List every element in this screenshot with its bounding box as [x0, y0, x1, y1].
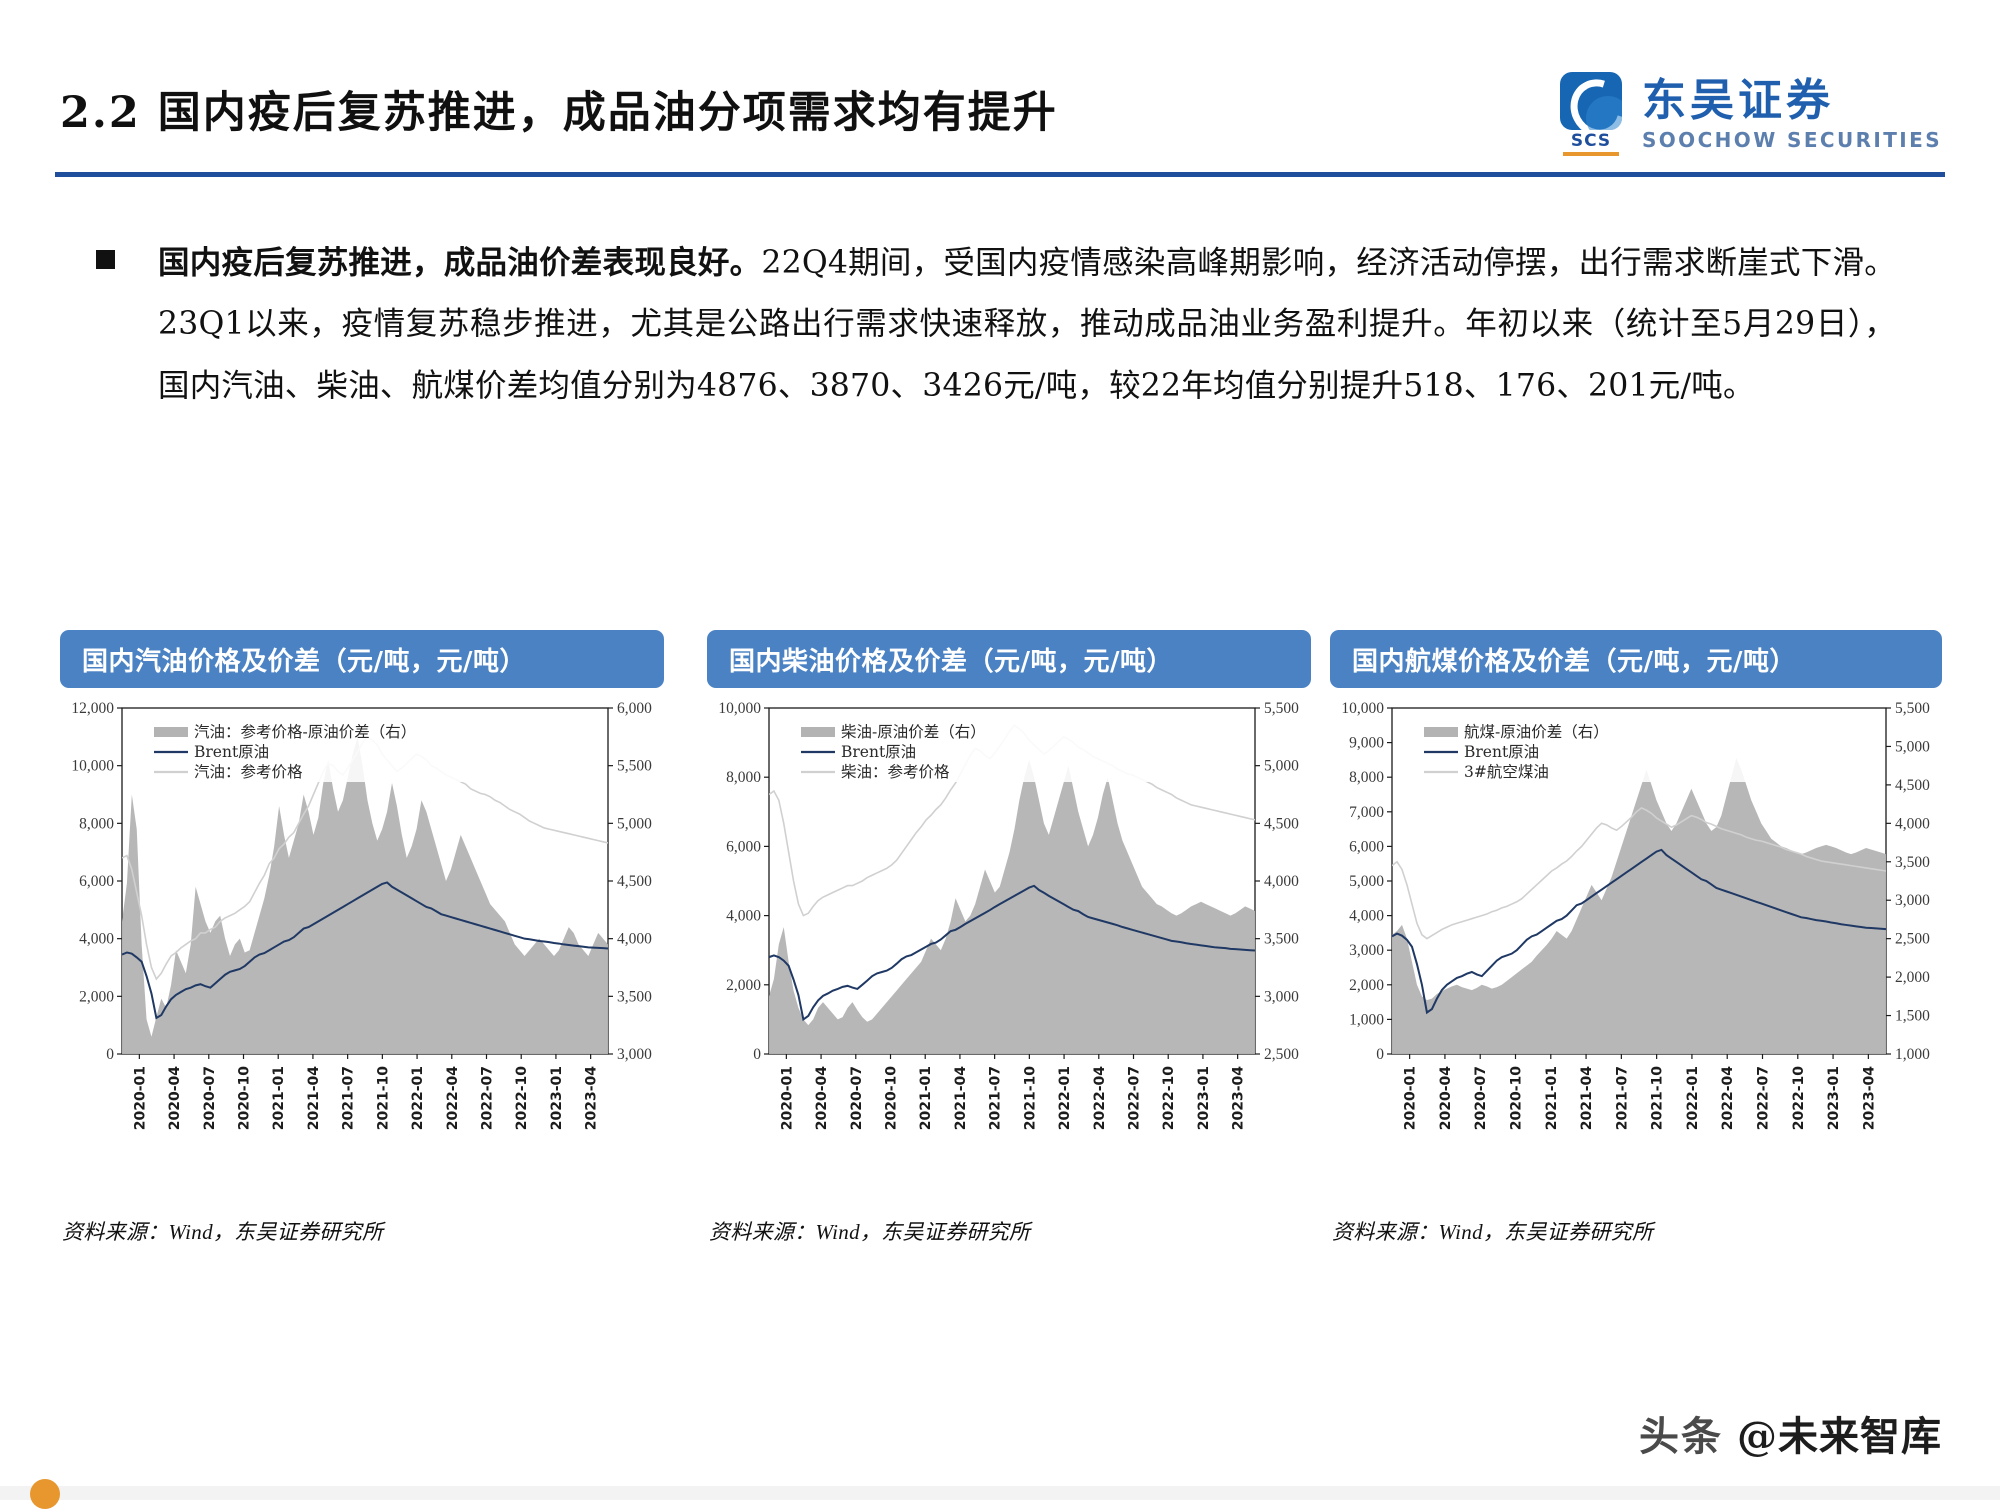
footer-dot-icon — [30, 1479, 60, 1509]
chart-title-jetfuel: 国内航煤价格及价差（元/吨，元/吨） — [1330, 630, 1942, 688]
chart-title-gasoline: 国内汽油价格及价差（元/吨，元/吨） — [60, 630, 664, 688]
svg-text:2,500: 2,500 — [1895, 931, 1930, 948]
footer-strip — [0, 1486, 2000, 1500]
svg-text:3,500: 3,500 — [1264, 931, 1299, 948]
svg-text:2021-01: 2021-01 — [918, 1066, 934, 1130]
svg-text:3,000: 3,000 — [1349, 942, 1384, 959]
svg-text:2020-04: 2020-04 — [814, 1066, 830, 1131]
svg-text:3#航空煤油: 3#航空煤油 — [1464, 763, 1549, 781]
svg-text:2023-01: 2023-01 — [1196, 1066, 1212, 1130]
svg-text:2023-04: 2023-04 — [1231, 1066, 1247, 1131]
svg-text:10,000: 10,000 — [1341, 702, 1384, 717]
svg-text:2023-04: 2023-04 — [1861, 1066, 1877, 1131]
svg-text:4,000: 4,000 — [1349, 908, 1384, 925]
svg-text:10,000: 10,000 — [71, 758, 114, 775]
svg-text:0: 0 — [1376, 1046, 1384, 1063]
svg-text:10,000: 10,000 — [718, 702, 761, 717]
svg-text:2020-01: 2020-01 — [779, 1066, 795, 1130]
svg-text:2020-01: 2020-01 — [1403, 1066, 1419, 1130]
chart-panel-diesel: 国内柴油价格及价差（元/吨，元/吨） 02,0004,0006,0008,000… — [707, 630, 1311, 1250]
svg-text:6,000: 6,000 — [726, 838, 761, 855]
chart-canvas-jetfuel: 01,0002,0003,0004,0005,0006,0007,0008,00… — [1330, 702, 1942, 1172]
svg-text:2022-01: 2022-01 — [1057, 1066, 1073, 1130]
svg-text:2022-04: 2022-04 — [445, 1066, 461, 1131]
source-note-gasoline: 资料来源：Wind，东吴证券研究所 — [62, 1216, 383, 1246]
svg-text:2020-01: 2020-01 — [132, 1066, 148, 1130]
svg-text:8,000: 8,000 — [1349, 769, 1384, 786]
header-divider — [55, 172, 1945, 177]
chart-svg: 01,0002,0003,0004,0005,0006,0007,0008,00… — [1330, 702, 1942, 1172]
svg-text:5,000: 5,000 — [1264, 758, 1299, 775]
scs-logo-icon: SCS — [1554, 72, 1628, 158]
svg-text:3,000: 3,000 — [617, 1046, 652, 1063]
svg-text:4,000: 4,000 — [617, 931, 652, 948]
svg-text:2020-04: 2020-04 — [1438, 1066, 1454, 1131]
svg-text:2021-07: 2021-07 — [341, 1066, 357, 1130]
svg-text:6,000: 6,000 — [617, 702, 652, 717]
svg-text:2021-01: 2021-01 — [1544, 1066, 1560, 1130]
svg-text:4,000: 4,000 — [726, 908, 761, 925]
svg-text:2022-04: 2022-04 — [1720, 1066, 1736, 1131]
svg-text:4,000: 4,000 — [79, 931, 114, 948]
logo-english-name: SOOCHOW SECURITIES — [1642, 128, 1942, 152]
svg-text:5,000: 5,000 — [1349, 873, 1384, 890]
svg-text:4,500: 4,500 — [617, 873, 652, 890]
svg-text:6,000: 6,000 — [1349, 838, 1384, 855]
svg-text:Brent原油: Brent原油 — [194, 743, 269, 761]
svg-text:2023-01: 2023-01 — [1826, 1066, 1842, 1130]
svg-text:4,500: 4,500 — [1895, 777, 1930, 794]
svg-text:12,000: 12,000 — [71, 702, 114, 717]
chart-panel-gasoline: 国内汽油价格及价差（元/吨，元/吨） 02,0004,0006,0008,000… — [60, 630, 664, 1250]
svg-text:2,000: 2,000 — [1349, 977, 1384, 994]
svg-text:2021-01: 2021-01 — [271, 1066, 287, 1130]
svg-text:7,000: 7,000 — [1349, 804, 1384, 821]
svg-text:4,000: 4,000 — [1264, 873, 1299, 890]
svg-text:2023-04: 2023-04 — [584, 1066, 600, 1131]
svg-text:2,000: 2,000 — [726, 977, 761, 994]
svg-text:3,000: 3,000 — [1895, 892, 1930, 909]
svg-text:2020-10: 2020-10 — [884, 1066, 900, 1131]
svg-text:2021-10: 2021-10 — [375, 1066, 391, 1131]
chart-svg: 02,0004,0006,0008,00010,00012,0003,0003,… — [60, 702, 664, 1172]
scs-logo-underline — [1563, 152, 1619, 156]
svg-text:2022-01: 2022-01 — [410, 1066, 426, 1130]
svg-text:3,500: 3,500 — [1895, 854, 1930, 871]
svg-text:2023-01: 2023-01 — [549, 1066, 565, 1130]
svg-text:汽油：参考价格: 汽油：参考价格 — [194, 763, 303, 781]
svg-text:1,000: 1,000 — [1349, 1011, 1384, 1028]
chart-title-diesel: 国内柴油价格及价差（元/吨，元/吨） — [707, 630, 1311, 688]
svg-text:2022-01: 2022-01 — [1685, 1066, 1701, 1130]
source-note-jetfuel: 资料来源：Wind，东吴证券研究所 — [1332, 1216, 1653, 1246]
chart-canvas-diesel: 02,0004,0006,0008,00010,0002,5003,0003,5… — [707, 702, 1311, 1172]
svg-text:柴油-原油价差（右）: 柴油-原油价差（右） — [841, 723, 986, 741]
svg-text:2021-07: 2021-07 — [1614, 1066, 1630, 1130]
svg-text:9,000: 9,000 — [1349, 735, 1384, 752]
square-bullet-icon — [96, 250, 115, 269]
svg-text:5,000: 5,000 — [1895, 738, 1930, 755]
svg-text:4,000: 4,000 — [1895, 815, 1930, 832]
svg-text:8,000: 8,000 — [79, 815, 114, 832]
svg-text:2020-10: 2020-10 — [1509, 1066, 1525, 1131]
svg-text:5,500: 5,500 — [617, 758, 652, 775]
svg-text:2022-07: 2022-07 — [1127, 1066, 1143, 1130]
svg-text:2021-10: 2021-10 — [1650, 1066, 1666, 1131]
svg-text:3,500: 3,500 — [617, 988, 652, 1005]
svg-text:2021-10: 2021-10 — [1022, 1066, 1038, 1131]
svg-text:2021-04: 2021-04 — [953, 1066, 969, 1131]
svg-text:2022-10: 2022-10 — [1791, 1066, 1807, 1131]
watermark-platform: 头条 — [1639, 1404, 1723, 1462]
svg-text:5,500: 5,500 — [1264, 702, 1299, 717]
svg-text:2020-07: 2020-07 — [1473, 1066, 1489, 1130]
chart-panel-jetfuel: 国内航煤价格及价差（元/吨，元/吨） 01,0002,0003,0004,000… — [1330, 630, 1942, 1250]
svg-text:1,000: 1,000 — [1895, 1046, 1930, 1063]
svg-text:2,000: 2,000 — [79, 988, 114, 1005]
watermark: 头条 @未来智库 — [1639, 1404, 1942, 1462]
svg-text:4,500: 4,500 — [1264, 815, 1299, 832]
logo-chinese-name: 东吴证券 — [1642, 78, 1942, 124]
svg-text:2,000: 2,000 — [1895, 969, 1930, 986]
svg-text:0: 0 — [753, 1046, 761, 1063]
svg-text:2020-07: 2020-07 — [202, 1066, 218, 1130]
svg-text:1,500: 1,500 — [1895, 1008, 1930, 1025]
page-title: 2.2 国内疫后复苏推进，成品油分项需求均有提升 — [60, 78, 1058, 140]
svg-text:2021-04: 2021-04 — [1579, 1066, 1595, 1131]
svg-text:2,500: 2,500 — [1264, 1046, 1299, 1063]
svg-text:2022-10: 2022-10 — [1161, 1066, 1177, 1131]
svg-text:2022-10: 2022-10 — [514, 1066, 530, 1131]
svg-text:2022-04: 2022-04 — [1092, 1066, 1108, 1131]
svg-text:2020-10: 2020-10 — [237, 1066, 253, 1131]
chart-svg: 02,0004,0006,0008,00010,0002,5003,0003,5… — [707, 702, 1311, 1172]
chart-canvas-gasoline: 02,0004,0006,0008,00010,00012,0003,0003,… — [60, 702, 664, 1172]
svg-text:2021-04: 2021-04 — [306, 1066, 322, 1131]
svg-text:航煤-原油价差（右）: 航煤-原油价差（右） — [1464, 723, 1609, 741]
svg-text:Brent原油: Brent原油 — [841, 743, 916, 761]
paragraph-lead: 国内疫后复苏推进，成品油价差表现良好。 — [158, 244, 761, 281]
svg-text:8,000: 8,000 — [726, 769, 761, 786]
svg-text:汽油：参考价格-原油价差（右）: 汽油：参考价格-原油价差（右） — [194, 723, 416, 741]
svg-text:2022-07: 2022-07 — [1756, 1066, 1772, 1130]
svg-text:2020-07: 2020-07 — [849, 1066, 865, 1130]
svg-text:3,000: 3,000 — [1264, 988, 1299, 1005]
svg-text:0: 0 — [106, 1046, 114, 1063]
scs-logo-text: SCS — [1571, 133, 1611, 150]
source-note-diesel: 资料来源：Wind，东吴证券研究所 — [709, 1216, 1030, 1246]
body-block: 国内疫后复苏推进，成品油价差表现良好。22Q4期间，受国内疫情感染高峰期影响，经… — [96, 232, 1896, 417]
svg-text:5,500: 5,500 — [1895, 702, 1930, 717]
svg-text:柴油：参考价格: 柴油：参考价格 — [841, 763, 950, 781]
body-paragraph: 国内疫后复苏推进，成品油价差表现良好。22Q4期间，受国内疫情感染高峰期影响，经… — [158, 232, 1896, 417]
company-logo: SCS 东吴证券 SOOCHOW SECURITIES — [1554, 72, 1942, 158]
svg-text:2021-07: 2021-07 — [988, 1066, 1004, 1130]
watermark-handle: @未来智库 — [1737, 1404, 1942, 1462]
svg-text:2020-04: 2020-04 — [167, 1066, 183, 1131]
svg-text:6,000: 6,000 — [79, 873, 114, 890]
svg-text:Brent原油: Brent原油 — [1464, 743, 1539, 761]
svg-text:2022-07: 2022-07 — [480, 1066, 496, 1130]
slide-header: 2.2 国内疫后复苏推进，成品油分项需求均有提升 SCS 东吴证券 SOOCHO… — [0, 0, 2000, 180]
svg-text:5,000: 5,000 — [617, 815, 652, 832]
